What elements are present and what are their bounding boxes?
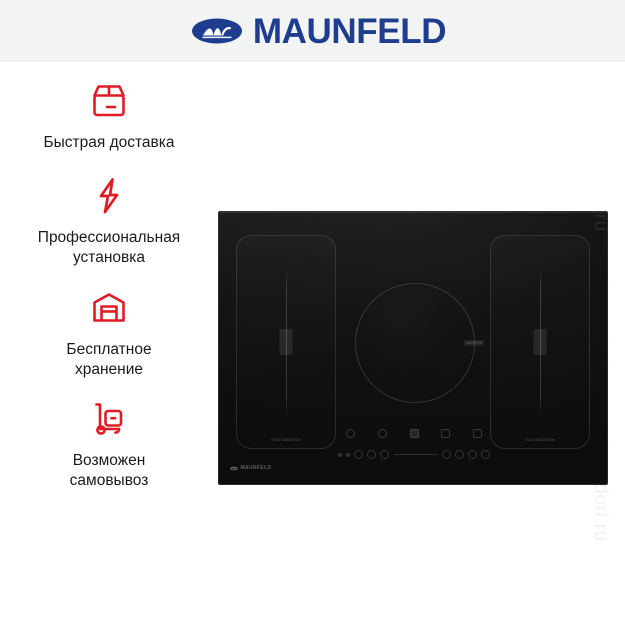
product-image: FLEX INDUCTION BOOSTER FLEX INDUCTION — [218, 211, 608, 485]
control-right-group — [442, 450, 490, 459]
power-key[interactable] — [346, 429, 355, 438]
control-keys-bottom-row — [338, 450, 490, 459]
plus-key[interactable] — [367, 450, 376, 459]
cooktop-brand-text: MAUNFELD — [241, 466, 272, 471]
package-box-icon — [86, 78, 132, 124]
bridge-key[interactable] — [468, 450, 477, 459]
indicator-dot-2-icon — [346, 453, 350, 457]
feature-label: Профессиональная установка — [38, 228, 180, 268]
brand-logo: MAUNFELD — [191, 14, 446, 49]
feature-label: Возможен самовывоз — [70, 451, 149, 491]
left-zone-center-mark — [280, 329, 293, 355]
timer-key[interactable] — [378, 429, 387, 438]
feature-item-fast-delivery: Быстрая доставка — [9, 78, 209, 153]
feature-item-self-pickup: Возможен самовывоз — [9, 396, 209, 491]
right-zone-center-mark — [534, 329, 547, 355]
center-zone-label: BOOSTER — [464, 340, 484, 346]
left-zone-label: FLEX INDUCTION — [271, 438, 300, 442]
cooktop-top-edge-highlight — [220, 212, 606, 213]
lock-key[interactable] — [410, 429, 419, 438]
pause-key[interactable] — [441, 429, 450, 438]
header-band: MAUNFELD — [0, 0, 625, 62]
right-flex-zone: FLEX INDUCTION — [490, 235, 590, 449]
touch-control-panel — [338, 429, 490, 471]
maunfeld-ellipse-m-mark-icon — [191, 16, 243, 46]
right-zone-label: FLEX INDUCTION — [525, 438, 554, 442]
boost-key[interactable] — [473, 429, 482, 438]
brand-wordmark: MAUNFELD — [253, 14, 446, 49]
power-slider[interactable] — [394, 454, 437, 455]
timer-key-2[interactable] — [455, 450, 464, 459]
left-flex-zone: FLEX INDUCTION — [236, 235, 336, 449]
indicator-dot-1-icon — [338, 453, 342, 457]
cooktop-brand-badge: MAUNFELD — [230, 466, 271, 471]
cooktop-brand-mark-icon — [230, 466, 238, 471]
feature-label: Быстрая доставка — [43, 133, 174, 153]
control-left-group — [338, 450, 389, 459]
level-key[interactable] — [442, 450, 451, 459]
menu-key[interactable] — [481, 450, 490, 459]
induction-cooktop-surface: FLEX INDUCTION BOOSTER FLEX INDUCTION — [218, 211, 608, 485]
lightning-bolt-icon — [86, 173, 132, 219]
feature-label: Бесплатное хранение — [66, 340, 151, 380]
feature-item-free-storage: Бесплатное хранение — [9, 285, 209, 380]
zone-key[interactable] — [380, 450, 389, 459]
hand-truck-icon — [86, 396, 132, 442]
warehouse-icon — [86, 285, 132, 331]
center-round-zone: BOOSTER — [355, 283, 475, 403]
control-keys-top-row — [346, 429, 482, 438]
feature-item-professional-install: Профессиональная установка — [9, 173, 209, 268]
features-list: Быстрая доставка Профессиональная устано… — [0, 78, 218, 491]
minus-key[interactable] — [354, 450, 363, 459]
